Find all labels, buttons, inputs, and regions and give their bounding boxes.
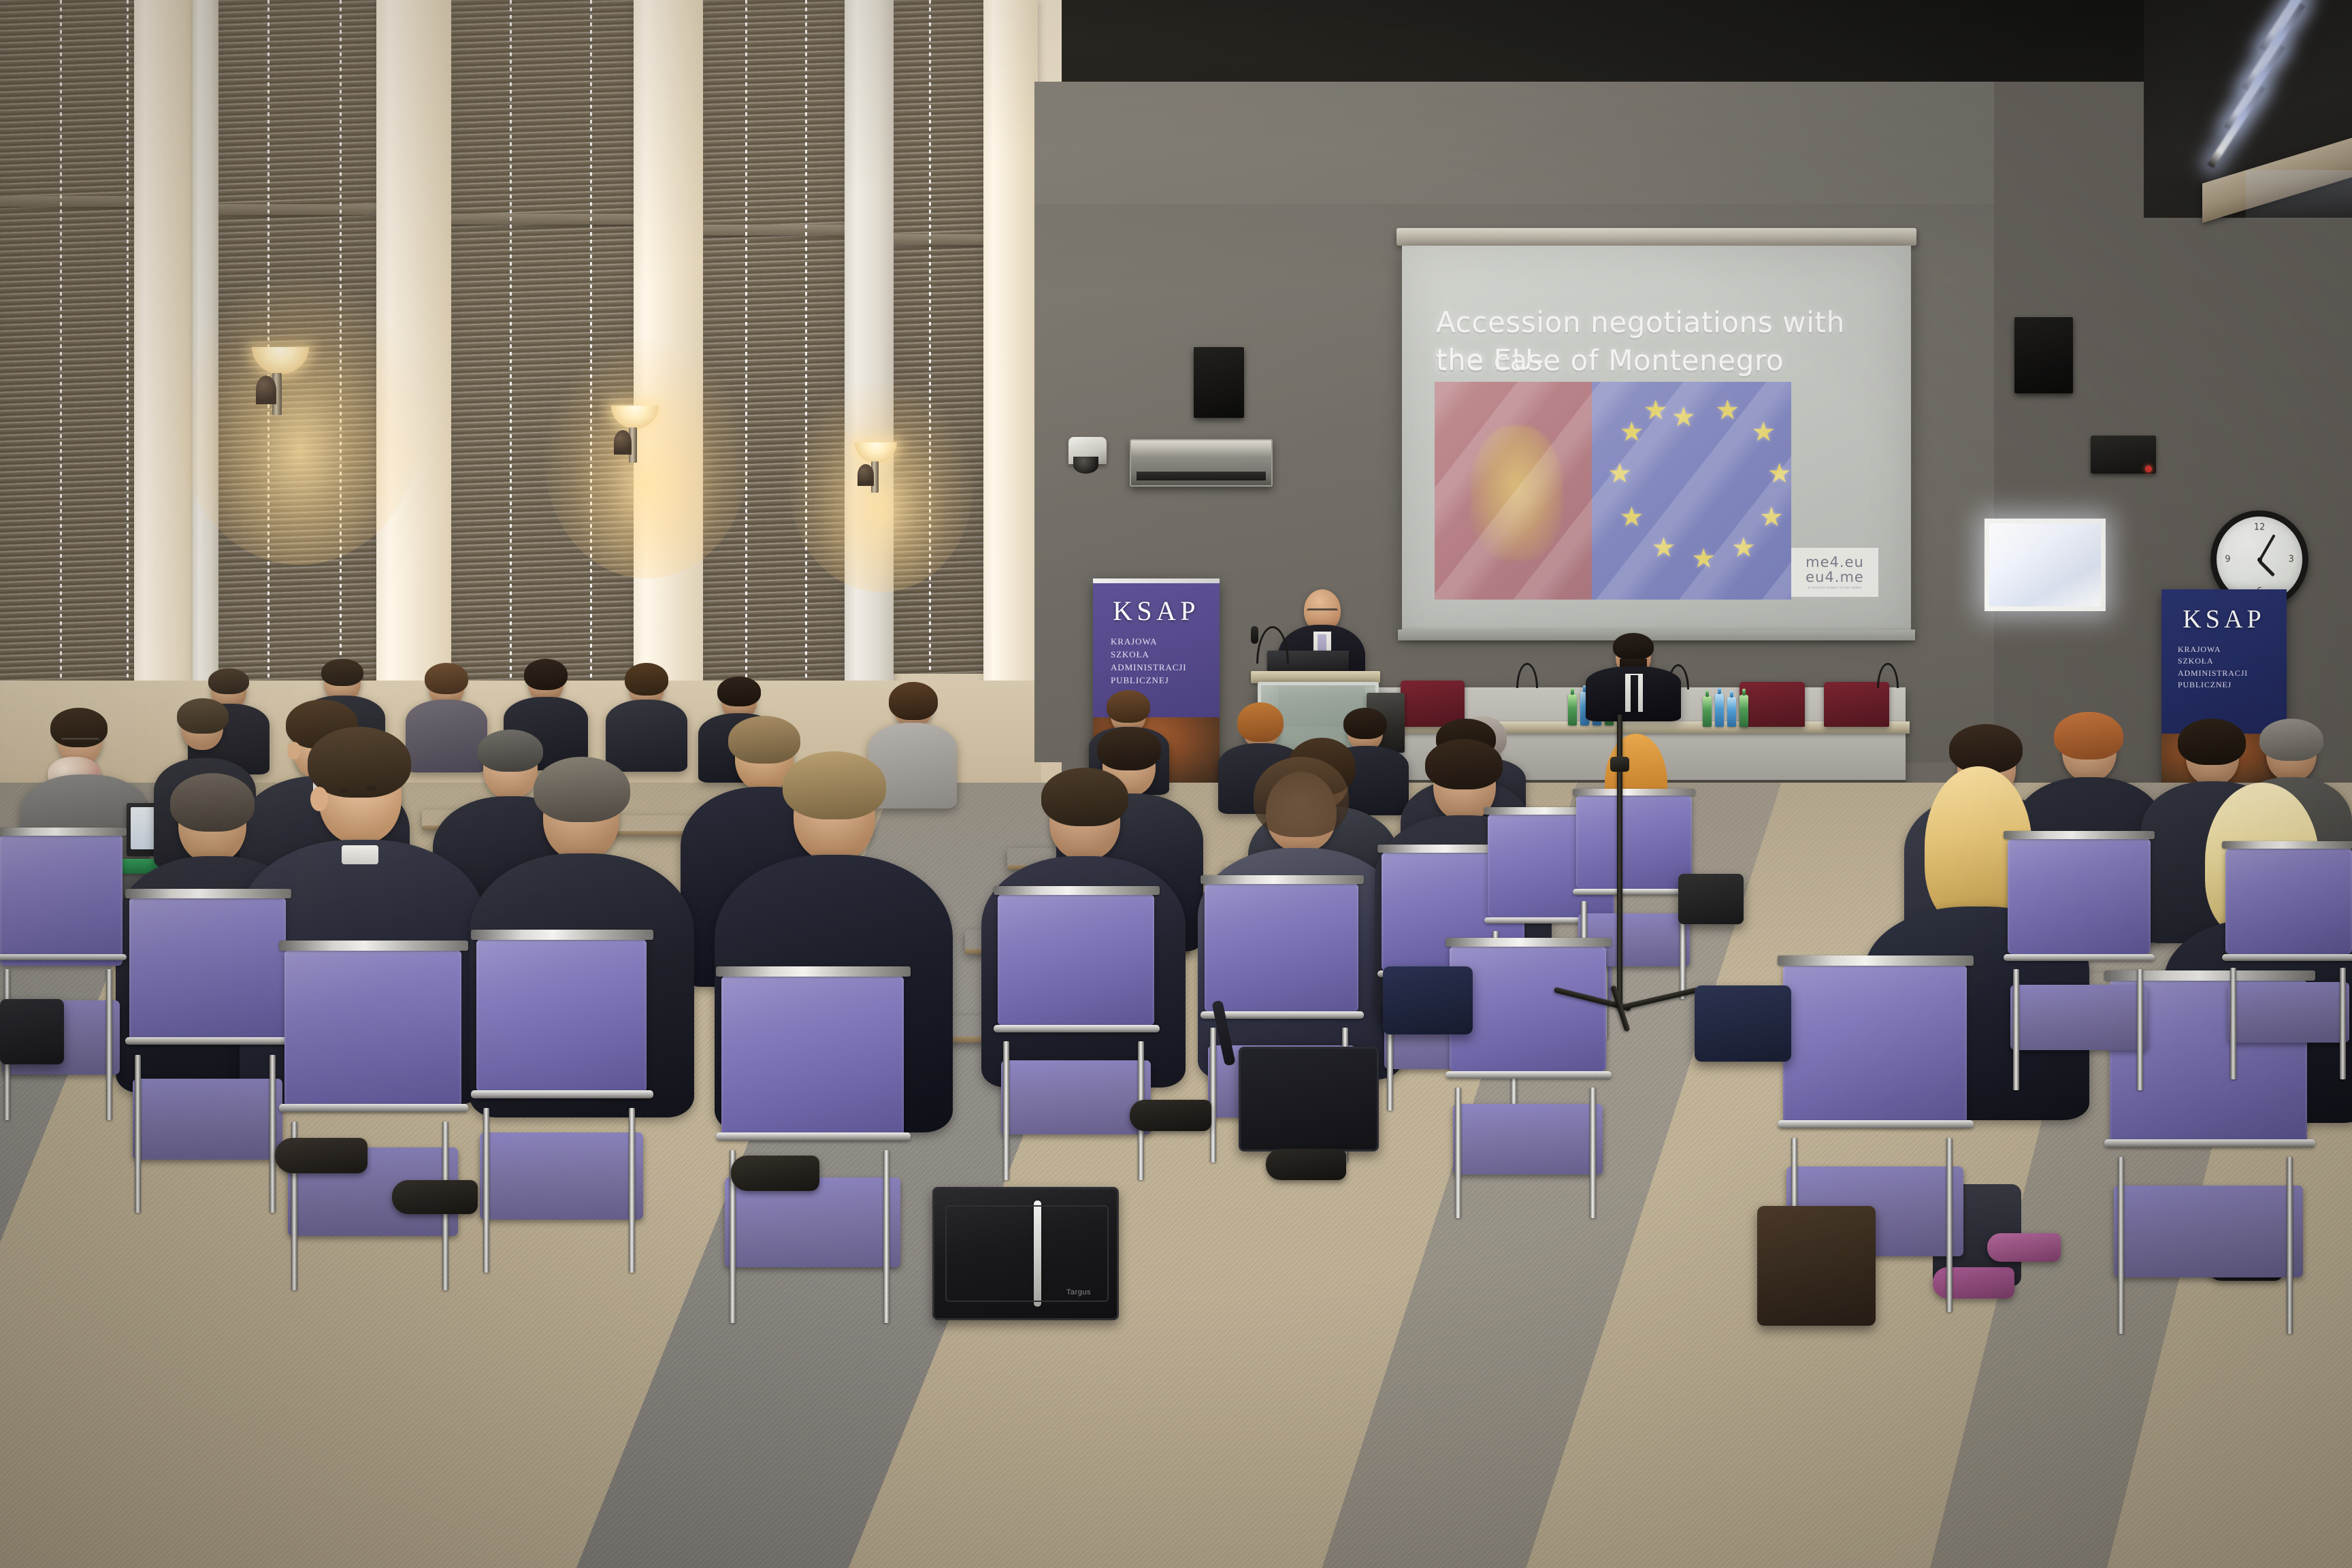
chair-leg <box>483 1108 489 1273</box>
panelist-hair <box>1613 633 1654 660</box>
eu-star-icon: ★ <box>1731 534 1756 561</box>
chair-arm <box>1445 1071 1612 1079</box>
shoe <box>1130 1100 1211 1131</box>
water-bottle <box>1739 695 1748 727</box>
chair-arm <box>2222 954 2352 961</box>
water-bottle <box>1727 697 1736 727</box>
me4eu-logo-tagline: a common project of two states <box>1808 586 1861 590</box>
floor-bag[interactable] <box>1757 1206 1876 1326</box>
projection-screen-case <box>1396 228 1916 246</box>
eu-star-icon: ★ <box>1607 460 1632 487</box>
balcony-glass-rail <box>2246 170 2352 219</box>
chair-leg <box>1003 1041 1009 1180</box>
chair-leg <box>629 1108 635 1273</box>
water-bottle <box>1568 694 1577 725</box>
chair-leg <box>2118 1157 2124 1334</box>
collar <box>342 845 378 864</box>
hair <box>783 751 886 819</box>
ksap-sub-line4: PUBLICZNEJ <box>1111 674 1187 687</box>
lectern-mic-head <box>1251 626 1258 644</box>
chair-arm <box>0 954 127 960</box>
panelist <box>1586 633 1681 721</box>
chair-leg <box>2230 968 2236 1079</box>
chair-frame-top <box>2004 831 2155 839</box>
floor-bag-navy[interactable] <box>1695 985 1791 1062</box>
hair <box>717 676 761 706</box>
illuminated-wall-panel <box>1984 519 2106 611</box>
eye <box>366 785 377 791</box>
sconce-backplate <box>256 376 276 404</box>
chair-seat <box>2010 985 2148 1050</box>
chair-back <box>284 950 461 1107</box>
chair-arm <box>716 1132 911 1141</box>
laptop-bag[interactable]: Targus <box>932 1187 1119 1320</box>
wall-pillar <box>193 0 218 701</box>
chair-leg <box>2287 1157 2293 1334</box>
banner-top-rail <box>1093 578 1220 583</box>
clock-hour-hand <box>2258 560 2275 577</box>
chair-arm <box>471 1090 653 1098</box>
chair-arm <box>994 1025 1160 1032</box>
hair <box>177 698 229 734</box>
chair-frame-top <box>0 828 127 836</box>
chair-leg <box>1210 1028 1216 1162</box>
conference-chair[interactable] <box>1450 946 1606 1218</box>
water-bottle <box>1703 696 1712 727</box>
air-conditioning-unit <box>1130 439 1273 487</box>
conference-chair[interactable] <box>998 894 1154 1180</box>
ksap-sub-line1: KRAJOWA <box>2178 644 2248 655</box>
eu-star-icon: ★ <box>1751 419 1776 446</box>
me4eu-logo-line1: me4.eu <box>1806 555 1864 570</box>
bag-brand-label: Targus <box>1066 1288 1091 1296</box>
wall-loudspeaker <box>1194 347 1244 418</box>
panel-chair[interactable] <box>1824 682 1889 727</box>
chair-seat <box>1001 1060 1151 1134</box>
chair-leg <box>1455 1088 1461 1218</box>
chair-arm <box>1573 889 1695 895</box>
speaker-glasses-icon <box>1307 608 1338 617</box>
eu-star-icon: ★ <box>1715 397 1739 424</box>
chair-leg <box>1946 1138 1953 1312</box>
clock-numeral: 12 <box>2254 523 2266 533</box>
shoe <box>275 1138 367 1173</box>
chair-back <box>1205 883 1358 1012</box>
hair <box>1254 757 1349 837</box>
shoe <box>1987 1233 2061 1262</box>
hair <box>889 682 938 720</box>
chair-leg <box>135 1055 141 1213</box>
chair-frame-top <box>994 886 1160 895</box>
hair <box>1237 702 1284 742</box>
conference-chair[interactable] <box>129 897 286 1210</box>
clock-center-pin <box>2257 557 2262 562</box>
window-blinds[interactable] <box>0 0 136 691</box>
wall-pillar <box>845 0 894 694</box>
wall-pillar <box>376 0 451 701</box>
conference-chair[interactable] <box>2225 848 2352 1079</box>
eu-star-icon: ★ <box>1652 534 1676 561</box>
shoe <box>731 1156 819 1191</box>
water-bottle <box>1715 693 1724 727</box>
chair-seat <box>2114 1186 2303 1277</box>
chair-arm <box>279 1104 468 1112</box>
chair-frame-top <box>716 966 911 977</box>
hair <box>1425 739 1503 789</box>
window-blinds[interactable] <box>703 0 845 681</box>
montenegro-flag <box>1435 382 1599 600</box>
wall-corner-pillar <box>983 0 1038 687</box>
chair-seat <box>1453 1104 1603 1175</box>
window-blinds[interactable] <box>218 0 376 687</box>
hair <box>534 757 630 822</box>
ksap-banner-right-subtitle: KRAJOWA SZKOŁA ADMINISTRACJI PUBLICZNEJ <box>2178 644 2248 691</box>
floor-bag[interactable] <box>1678 874 1744 924</box>
eu-star-icon: ★ <box>1691 545 1716 572</box>
slide-title-line2: the case of Montenegro <box>1436 342 1878 380</box>
chair-back <box>721 976 904 1136</box>
eu-star-icon: ★ <box>1620 504 1644 531</box>
hair <box>2054 712 2123 759</box>
chair-frame-top <box>2222 841 2352 849</box>
dome-camera-icon <box>1068 437 1107 464</box>
chair-back <box>2008 838 2151 954</box>
bag-front-pocket <box>945 1205 1109 1302</box>
chair-back <box>998 894 1154 1026</box>
chair-seat <box>133 1079 283 1160</box>
conference-chair[interactable] <box>2008 838 2151 1090</box>
floor-bag-navy[interactable] <box>1383 966 1473 1034</box>
eu-star-icon: ★ <box>1759 504 1784 531</box>
floor-bag[interactable] <box>0 999 64 1064</box>
chair-arm <box>2104 1139 2315 1147</box>
shoe <box>392 1180 478 1214</box>
wall-loudspeaker <box>2014 317 2073 393</box>
chair-arm <box>125 1037 291 1045</box>
wall-box-led <box>2145 465 2152 472</box>
hair <box>1041 768 1128 826</box>
ear <box>310 787 328 811</box>
chair-frame-top <box>1445 938 1612 947</box>
wall-pillar <box>134 0 193 701</box>
conference-chair[interactable] <box>476 939 647 1273</box>
sconce-backplate <box>857 464 874 486</box>
chair-seat <box>2228 982 2350 1042</box>
ksap-sub-line1: KRAJOWA <box>1111 636 1187 649</box>
hair <box>308 727 411 798</box>
chair-seat <box>480 1132 643 1219</box>
window-blinds[interactable] <box>894 0 983 674</box>
eu-flag: ★ ★ ★ ★ ★ ★ ★ ★ ★ ★ ★ ★ <box>1592 382 1791 600</box>
chair-leg <box>269 1055 276 1213</box>
eye <box>339 788 349 794</box>
chair-back <box>1576 795 1692 889</box>
shoulder-bag[interactable] <box>1239 1047 1379 1151</box>
ksap-sub-line3: ADMINISTRACJI <box>2178 668 2248 679</box>
hair <box>208 668 249 694</box>
chair-back <box>2225 848 2352 954</box>
eu-star-icon: ★ <box>1620 419 1644 446</box>
me4eu-logo-line2: eu4.me <box>1806 570 1864 585</box>
bottle-cluster <box>1700 689 1768 727</box>
slide-flag-image: ★ ★ ★ ★ ★ ★ ★ ★ ★ ★ ★ ★ <box>1435 382 1791 600</box>
ksap-banner-left-acronym: KSAP <box>1093 595 1220 627</box>
chair-arm <box>1778 1120 1974 1128</box>
eu-star-icon: ★ <box>1671 404 1696 431</box>
wall-pillar <box>634 0 703 701</box>
ksap-sub-line4: PUBLICZNEJ <box>2178 679 2248 691</box>
chair-leg <box>883 1150 889 1323</box>
ksap-banner-left-subtitle: KRAJOWA SZKOŁA ADMINISTRACJI PUBLICZNEJ <box>1111 636 1187 687</box>
chair-back <box>1450 946 1606 1071</box>
chair-frame-top <box>471 930 653 940</box>
chair-frame-top <box>1573 789 1695 796</box>
hair <box>2259 719 2323 761</box>
ksap-sub-line2: SZKOŁA <box>2178 655 2248 667</box>
hair <box>625 663 668 696</box>
panelist-tie <box>1631 675 1638 712</box>
ksap-sub-line2: SZKOŁA <box>1111 649 1187 661</box>
bag-handle <box>988 1165 1053 1192</box>
window-blinds[interactable] <box>451 0 634 684</box>
conference-hall-photo: Accession negotiations with the EU- the … <box>0 0 2352 1568</box>
chair-back <box>0 834 122 966</box>
hair <box>425 663 468 694</box>
clock-numeral: 3 <box>2288 555 2293 565</box>
hair <box>321 659 363 686</box>
sconce-backplate <box>614 430 632 455</box>
chair-leg <box>2137 969 2143 1090</box>
glasses-icon <box>61 738 99 747</box>
chair-back <box>1783 965 1967 1125</box>
chair-frame-top <box>279 941 468 951</box>
conference-chair[interactable] <box>721 976 904 1323</box>
chair-leg <box>2340 968 2346 1079</box>
eu-star-icon: ★ <box>1644 397 1668 424</box>
montenegro-eagle <box>1471 425 1563 560</box>
conference-chair[interactable] <box>0 834 122 1120</box>
me4eu-logo: me4.eu eu4.me a common project of two st… <box>1791 548 1878 597</box>
hair <box>1343 708 1387 739</box>
chair-back <box>129 897 286 1041</box>
chair-arm <box>2004 954 2155 961</box>
audience-member <box>606 667 687 772</box>
chair-leg <box>2013 969 2019 1090</box>
chair-frame-top <box>1778 955 1974 966</box>
clock-numeral: 9 <box>2225 555 2230 565</box>
chair-frame-top <box>125 889 291 898</box>
microphone-stand-clip <box>1610 757 1629 772</box>
ksap-sub-line3: ADMINISTRACJI <box>1111 661 1187 674</box>
chair-back <box>476 939 647 1092</box>
ac-louver <box>1137 472 1266 480</box>
camera-dome <box>1073 457 1098 474</box>
hair <box>1107 690 1150 723</box>
chair-leg <box>1590 1088 1596 1218</box>
hair <box>524 659 568 690</box>
eu-star-icon: ★ <box>1767 460 1791 487</box>
projection-screen: Accession negotiations with the EU- the … <box>1402 246 1911 634</box>
hair <box>1097 727 1161 770</box>
chair-leg <box>106 969 112 1120</box>
shoe <box>1266 1149 1346 1180</box>
ksap-banner-right-acronym: KSAP <box>2161 604 2287 634</box>
chair-frame-top <box>1200 875 1364 884</box>
conference-chair[interactable] <box>284 950 461 1290</box>
